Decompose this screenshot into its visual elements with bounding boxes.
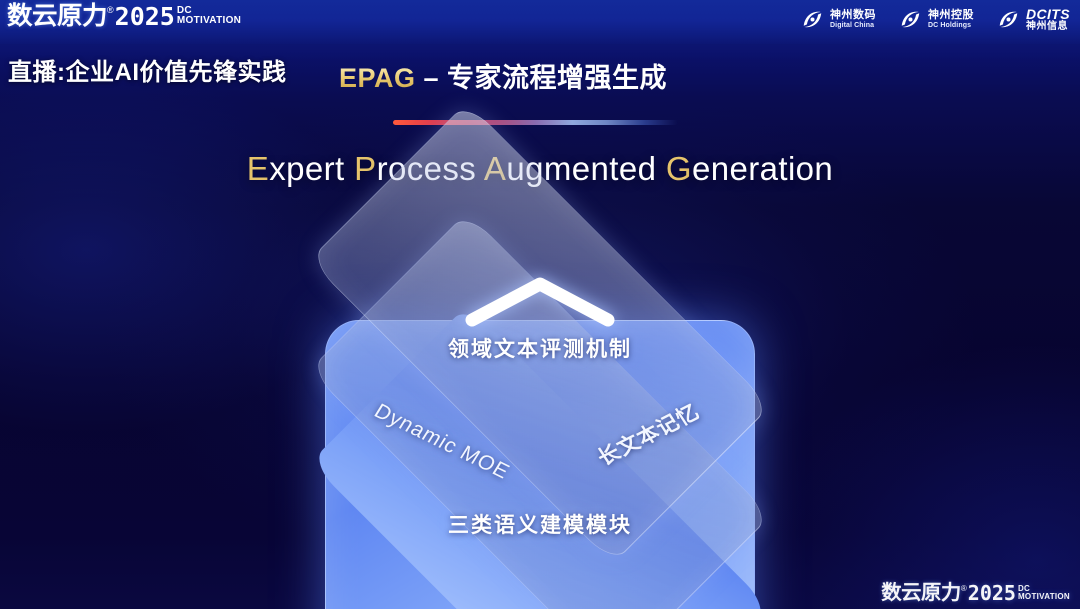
watermark-year: 2025 <box>968 583 1016 603</box>
watermark-registered-mark: ® <box>961 584 967 593</box>
watermark-cn: 数云原力 <box>881 583 961 603</box>
layer-stack-diagram: 领域文本评测机制 Dynamic MOE 长文本记忆 三类语义建模模块 <box>0 0 1080 609</box>
chevron-up-icon <box>462 274 618 328</box>
slide-canvas: 数云原力 ® 2025 DC MOTIVATION 神州数码 <box>0 0 1080 609</box>
footer-watermark: 数云原力 ® 2025 DC MOTIVATION <box>882 583 1070 603</box>
watermark-subtitle-line2: MOTIVATION <box>1018 593 1070 601</box>
watermark-subtitle: DC MOTIVATION <box>1018 583 1070 601</box>
diagram-layer-bottom-label: 三类语义建模模块 <box>0 509 1080 539</box>
diagram-layer-top-label: 领域文本评测机制 <box>0 333 1080 363</box>
